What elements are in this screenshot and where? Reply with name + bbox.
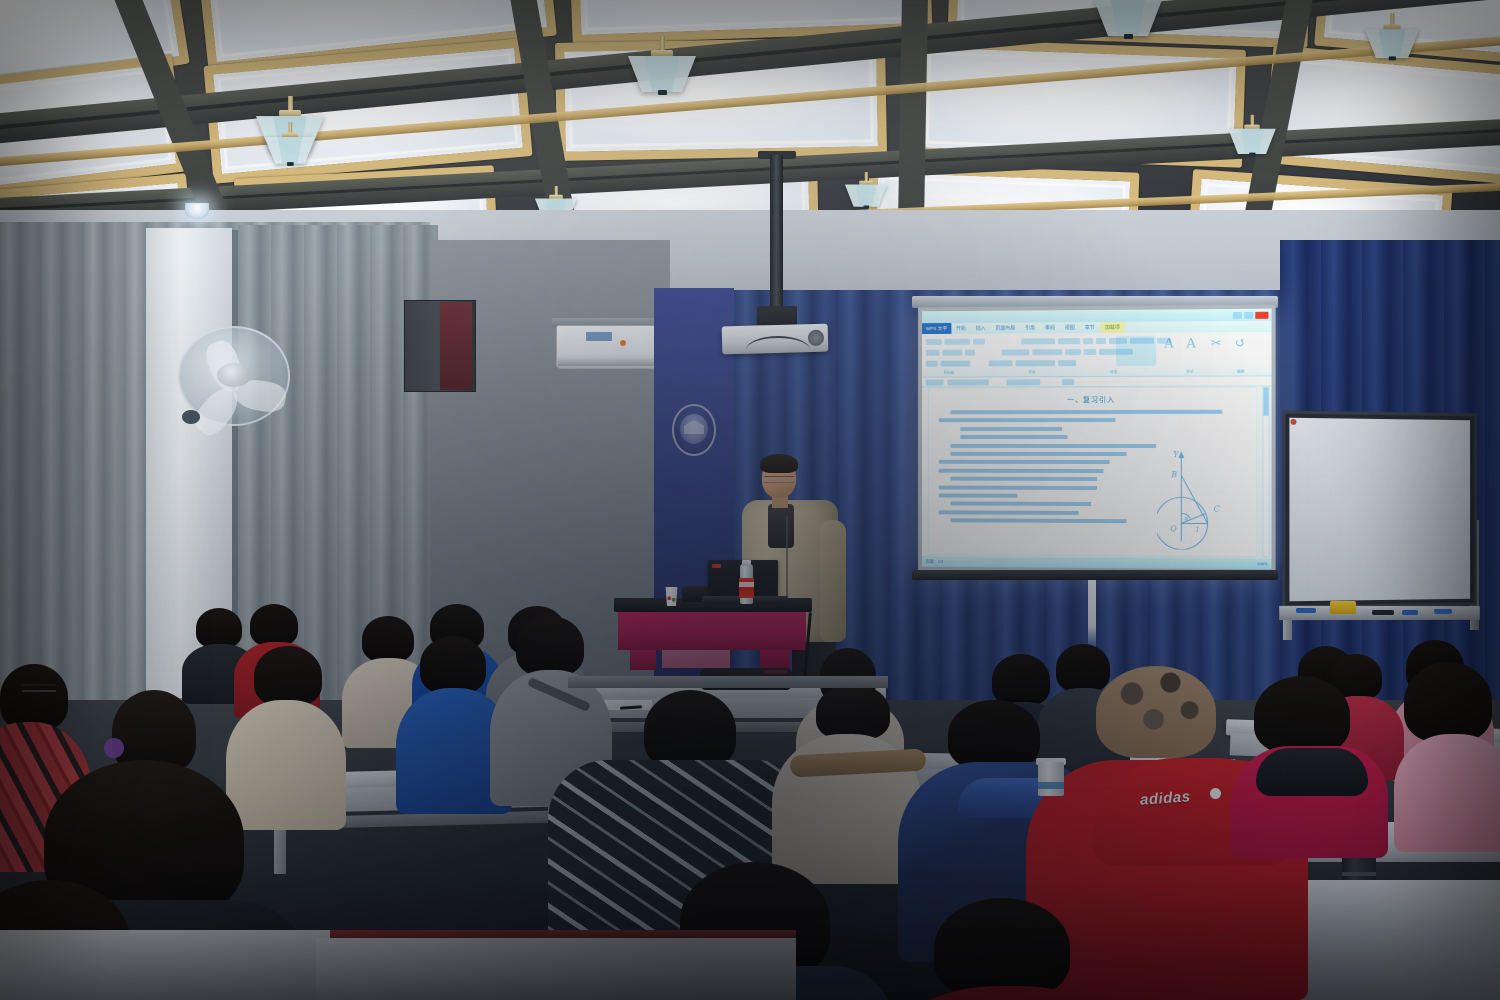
lamp-shade-inner (1378, 29, 1405, 58)
curtain-pullcord[interactable] (1088, 572, 1096, 650)
wall-speaker-grille (440, 302, 472, 390)
foreground-desk-left[interactable] (0, 930, 330, 1000)
student-hair (1254, 676, 1350, 754)
ribbon-control[interactable] (1065, 349, 1081, 355)
stage-edge (568, 676, 888, 688)
ribbon-group-label-paragraph: 段落 (1110, 370, 1117, 375)
label-b: B (1170, 470, 1177, 479)
unit-circle-svg: Y B C O α 1 (1157, 445, 1250, 550)
tab-start[interactable]: 开始 (951, 323, 971, 334)
projected-application: WPS 文字 开始 插入 页面布局 引用 审阅 视图 章节 加载项 (922, 309, 1272, 570)
ribbon-control[interactable] (926, 360, 938, 366)
ribbon-group-label-styles: 样式 (1186, 370, 1193, 375)
document-text-line (939, 418, 1246, 422)
student-hair (934, 898, 1070, 998)
ribbon-control[interactable] (1096, 337, 1106, 343)
whiteboard-magnet-icon (1290, 419, 1296, 425)
classroom-photo: WPS 文字 开始 插入 页面布局 引用 审阅 视图 章节 加载项 (0, 0, 1500, 1000)
ribbon-toolbar: A A ✂ ↺ 剪贴板 字体 段落 样式 编辑 (922, 332, 1272, 378)
projection-screen: WPS 文字 开始 插入 页面布局 引用 审阅 视图 章节 加载项 (918, 305, 1276, 574)
zoom-level[interactable]: 100% (1257, 561, 1267, 566)
ribbon-group-label-clipboard: 剪贴板 (944, 371, 955, 376)
ribbon-glyph-style[interactable]: A (1186, 336, 1195, 351)
ribbon-glyph-cut[interactable]: ✂ (1211, 336, 1222, 351)
lamp-tip (863, 206, 869, 209)
podium-foot (630, 648, 656, 670)
paper-cup-pattern (666, 595, 677, 603)
whiteboard-marker[interactable] (1372, 610, 1394, 615)
lamp-tip (658, 90, 667, 95)
presenter-shirt (768, 504, 794, 548)
lamp-shade-inner (277, 137, 302, 164)
lamp-tip (1124, 34, 1133, 39)
minimize-button[interactable] (1233, 311, 1242, 318)
student-body (1394, 734, 1500, 852)
air-conditioner-vent (558, 358, 660, 366)
student-hair (1096, 666, 1216, 758)
eyeglasses-icon (764, 476, 794, 483)
ribbon-glyph-undo[interactable]: ↺ (1235, 336, 1246, 351)
laptop-brand-logo (712, 564, 721, 568)
tab-page-layout[interactable]: 页面布局 (991, 323, 1021, 334)
whiteboard-marker[interactable] (1296, 608, 1316, 613)
eyeglasses-icon (22, 684, 56, 692)
ribbon-control[interactable] (926, 349, 940, 355)
water-bottle-label-band (739, 582, 754, 587)
lamp-shade-inner (1111, 0, 1145, 36)
ribbon-control[interactable] (943, 349, 963, 355)
ribbon-control[interactable] (973, 338, 985, 344)
student-hair (254, 646, 322, 706)
ribbon-control[interactable] (1058, 360, 1076, 366)
whiteboard-marker[interactable] (1434, 609, 1452, 614)
qa-control[interactable] (947, 379, 988, 385)
student-hair (362, 616, 414, 662)
wall-fan-left-icon (178, 326, 290, 426)
water-bottle-cap (742, 560, 751, 566)
status-bar: 页面：1/3 100% (922, 556, 1272, 570)
ribbon-control[interactable] (1083, 338, 1093, 344)
ribbon-control[interactable] (1021, 338, 1055, 344)
app-logo[interactable]: WPS 文字 (922, 323, 951, 334)
projector-pole (770, 155, 783, 313)
tab-section[interactable]: 章节 (1080, 322, 1100, 333)
qa-control[interactable] (1007, 379, 1041, 385)
foreground-desk-center[interactable] (316, 938, 796, 1000)
hair-tie (104, 738, 124, 758)
tab-review[interactable]: 审阅 (1040, 322, 1060, 333)
label-c: C (1214, 504, 1220, 513)
maximize-button[interactable] (1244, 311, 1253, 318)
ribbon-style-gallery[interactable] (1116, 336, 1156, 366)
thermos-band (1342, 872, 1376, 876)
document-text-line (950, 410, 1246, 414)
document-text-line (960, 427, 1246, 431)
student-hair (992, 654, 1050, 706)
air-conditioner-badge (586, 332, 612, 341)
qa-control[interactable] (926, 379, 944, 385)
lamp-tip (1249, 153, 1255, 157)
qa-control[interactable] (1062, 379, 1074, 385)
tab-view[interactable]: 视图 (1060, 322, 1080, 333)
label-o: O (1170, 524, 1177, 533)
label-radius: 1 (1195, 526, 1199, 533)
lamp-shade-inner (645, 56, 679, 92)
ribbon-control[interactable] (941, 360, 970, 366)
fan-hub (217, 363, 251, 387)
ribbon-control[interactable] (989, 360, 1013, 366)
scrollbar-thumb[interactable] (1263, 387, 1268, 415)
student-hair (516, 616, 584, 676)
label-y: Y (1173, 450, 1179, 459)
lamp-tip (287, 162, 294, 166)
whiteboard-surface[interactable] (1289, 418, 1470, 602)
ribbon-group-label-editing: 编辑 (1237, 369, 1244, 374)
lamp-shade-inner (855, 184, 876, 206)
student-hair (816, 684, 890, 740)
student-hair (1056, 644, 1110, 692)
ribbon-group-label-font: 字体 (1028, 370, 1035, 375)
document-canvas[interactable]: 一、复习引入 (928, 387, 1257, 558)
tab-addins[interactable]: 加载项 (1100, 322, 1125, 333)
ribbon-control[interactable] (965, 349, 975, 355)
ribbon-glyph-font[interactable]: A (1164, 337, 1173, 352)
document-text-line (960, 435, 1246, 439)
student-hair (644, 690, 736, 770)
ribbon-control[interactable] (1032, 349, 1062, 355)
water-bottle-label (739, 578, 754, 598)
ribbon-row (926, 358, 1268, 367)
ribbon-control[interactable] (1058, 338, 1080, 344)
label-alpha: α (1184, 515, 1188, 522)
adidas-logo-mark (1210, 788, 1221, 799)
student-hair (250, 604, 298, 646)
whiteboard[interactable] (1282, 411, 1477, 609)
student-hair (1404, 662, 1492, 742)
ribbon-control[interactable] (1084, 348, 1096, 354)
whiteboard-marker[interactable] (1402, 610, 1418, 615)
lamp-shade-inner (1240, 129, 1264, 154)
travel-mug-band (1038, 782, 1064, 789)
unit-circle-diagram: Y B C O α 1 (1157, 445, 1250, 550)
student-hair (196, 608, 242, 648)
whiteboard-eraser[interactable] (1330, 601, 1356, 614)
backpack-stripe (764, 670, 788, 674)
travel-mug[interactable] (1038, 762, 1064, 796)
document-heading: 一、复习引入 (939, 395, 1246, 406)
presenter-hair (760, 454, 798, 473)
tab-insert[interactable]: 插入 (971, 323, 991, 334)
jacket-hood (1256, 748, 1368, 796)
document-scrollbar[interactable] (1262, 386, 1269, 557)
page-indicator: 页面：1/3 (926, 558, 943, 564)
tab-references[interactable]: 引用 (1020, 322, 1040, 333)
student-hair (420, 636, 486, 694)
student-hair (0, 664, 68, 730)
adidas-logo-text: adidas (1139, 788, 1191, 808)
air-conditioner-led (620, 340, 626, 346)
recessed-downlight-icon (185, 203, 209, 219)
ribbon-control[interactable] (1002, 349, 1030, 355)
student-body (226, 700, 346, 830)
ribbon-control[interactable] (926, 338, 942, 344)
projection-screen-bottom-bar (912, 570, 1278, 580)
ribbon-control[interactable] (945, 338, 971, 344)
axis-y-arrow (1178, 451, 1184, 458)
podium-body (618, 610, 806, 650)
presenter-arm (820, 520, 846, 642)
lamp-tip (1388, 56, 1395, 60)
student-hair (948, 700, 1040, 770)
ribbon-control[interactable] (1015, 360, 1055, 366)
close-icon[interactable] (1255, 311, 1268, 318)
